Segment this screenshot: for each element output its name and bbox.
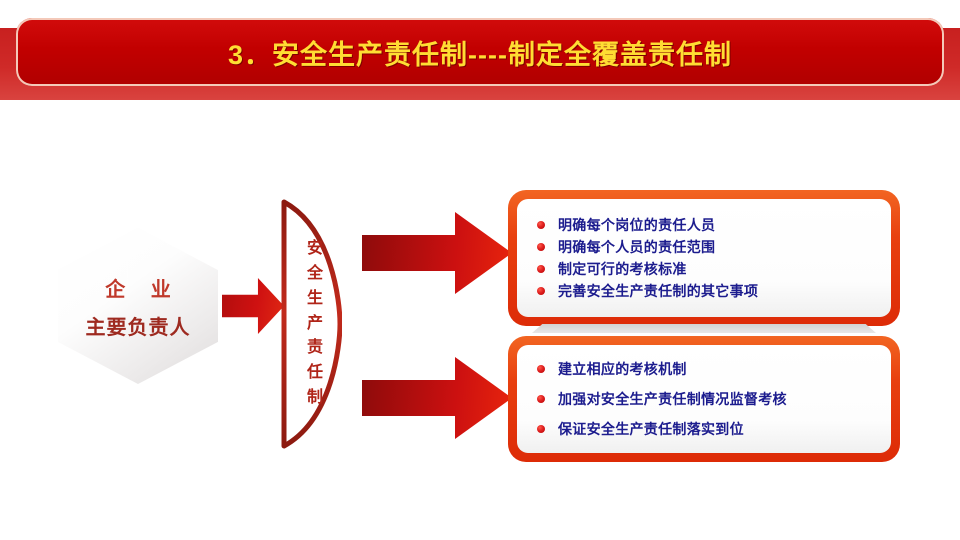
list-item: 加强对安全生产责任制情况监督考核 [537, 389, 877, 409]
leaf-char: 全 [307, 262, 323, 287]
bullet-dot-icon [537, 287, 545, 295]
list-item: 明确每个岗位的责任人员 [537, 215, 877, 235]
bullet-dot-icon [537, 221, 545, 229]
list-item-label: 保证安全生产责任制落实到位 [558, 419, 744, 439]
list-item: 制定可行的考核标准 [537, 259, 877, 279]
page-title: 3．安全生产责任制----制定全覆盖责任制 [228, 33, 732, 72]
list-item-label: 明确每个人员的责任范围 [558, 237, 715, 257]
responsibility-definition-box[interactable]: 明确每个岗位的责任人员 明确每个人员的责任范围 制定可行的考核标准 完善安全生产… [508, 190, 900, 326]
bullet-dot-icon [537, 365, 545, 373]
list-item: 完善安全生产责任制的其它事项 [537, 281, 877, 301]
leaf-char: 制 [307, 386, 323, 411]
list-item-label: 制定可行的考核标准 [558, 259, 687, 279]
arrow-right-icon-bottom [362, 357, 512, 439]
responsibility-assessment-box[interactable]: 建立相应的考核机制 加强对安全生产责任制情况监督考核 保证安全生产责任制落实到位 [508, 336, 900, 462]
list-item-label: 加强对安全生产责任制情况监督考核 [558, 389, 787, 409]
leaf-char: 产 [307, 312, 323, 337]
list-item: 建立相应的考核机制 [537, 359, 877, 379]
leaf-char: 责 [307, 336, 323, 361]
slide-canvas: 3．安全生产责任制----制定全覆盖责任制 企 业 主要负责人 安 全 生 [0, 0, 960, 540]
enterprise-principal-hexagon[interactable]: 企 业 主要负责人 [58, 228, 218, 384]
hexagon-label-line1: 企 业 [95, 273, 181, 302]
bullet-dot-icon [537, 425, 545, 433]
bullet-dot-icon [537, 395, 545, 403]
arrow-right-icon-top [362, 212, 512, 294]
leaf-char: 任 [307, 361, 323, 386]
hexagon-label-line2: 主要负责人 [86, 311, 191, 340]
list-item-label: 完善安全生产责任制的其它事项 [558, 281, 758, 301]
list-item-label: 明确每个岗位的责任人员 [558, 215, 715, 235]
bullet-dot-icon [537, 265, 545, 273]
hexagon-label-group: 企 业 主要负责人 [58, 228, 218, 384]
box-inner-panel: 建立相应的考核机制 加强对安全生产责任制情况监督考核 保证安全生产责任制落实到位 [517, 345, 891, 453]
leaf-char: 生 [307, 287, 323, 312]
box-inner-panel: 明确每个岗位的责任人员 明确每个人员的责任范围 制定可行的考核标准 完善安全生产… [517, 199, 891, 317]
leaf-vertical-label: 安 全 生 产 责 任 制 [274, 196, 342, 452]
safety-production-responsibility-leaf[interactable]: 安 全 生 产 责 任 制 [274, 196, 342, 452]
box-drop-shadow [532, 324, 876, 333]
list-item: 保证安全生产责任制落实到位 [537, 419, 877, 439]
leaf-char: 安 [307, 237, 323, 262]
list-item: 明确每个人员的责任范围 [537, 237, 877, 257]
list-item-label: 建立相应的考核机制 [558, 359, 687, 379]
bullet-dot-icon [537, 243, 545, 251]
title-banner: 3．安全生产责任制----制定全覆盖责任制 [16, 18, 944, 86]
